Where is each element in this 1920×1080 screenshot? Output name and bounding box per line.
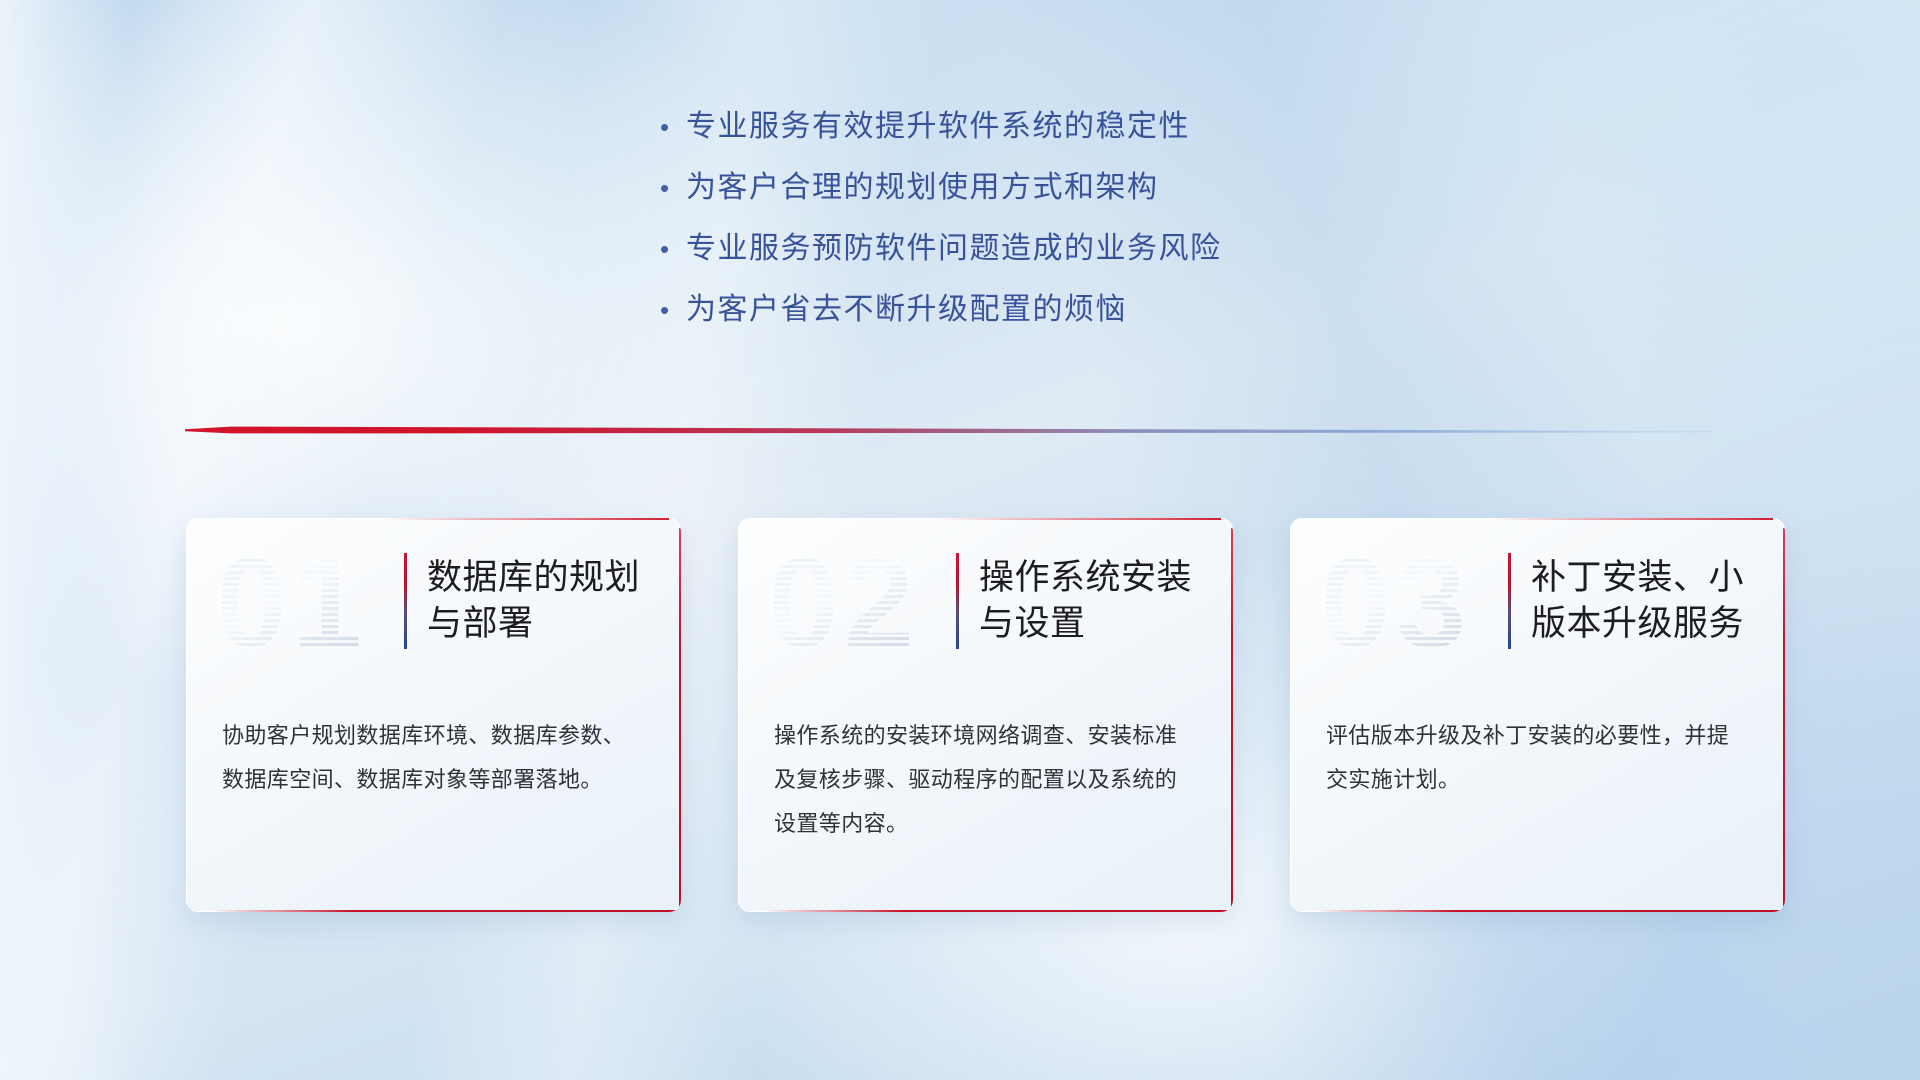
bullet-dot-icon: • bbox=[660, 297, 686, 323]
card-title: 操作系统安装 与设置 bbox=[979, 555, 1192, 647]
card-title-rule bbox=[956, 553, 959, 649]
bullet-text: 为客户省去不断升级配置的烦恼 bbox=[686, 293, 1127, 326]
card-title-rule bbox=[404, 553, 407, 649]
card-number-01-graphic: 01 01 bbox=[210, 535, 400, 667]
section-divider bbox=[185, 424, 1715, 442]
card-body-text: 评估版本升级及补丁安装的必要性，并提交实施计划。 bbox=[1326, 714, 1751, 802]
card-bottom-accent bbox=[212, 910, 681, 913]
card-header: 01 01 数据库的规划 与部署 bbox=[186, 526, 681, 676]
card-top-accent bbox=[1488, 518, 1773, 520]
card-title-rule bbox=[1508, 553, 1511, 649]
card-title: 数据库的规划 与部署 bbox=[427, 555, 640, 647]
bullet-text: 专业服务有效提升软件系统的稳定性 bbox=[686, 110, 1190, 143]
svg-text:03: 03 bbox=[1320, 535, 1470, 667]
card-number-03-graphic: 03 03 bbox=[1314, 535, 1504, 667]
svg-text:02: 02 bbox=[768, 535, 918, 667]
list-item: • 为客户合理的规划使用方式和架构 bbox=[660, 171, 1480, 204]
card-top-accent bbox=[936, 518, 1221, 520]
list-item: • 专业服务有效提升软件系统的稳定性 bbox=[660, 110, 1480, 143]
card-top-accent bbox=[384, 518, 669, 520]
card-body-text: 操作系统的安装环境网络调查、安装标准及复核步骤、驱动程序的配置以及系统的设置等内… bbox=[774, 714, 1199, 846]
bullet-text: 专业服务预防软件问题造成的业务风险 bbox=[686, 232, 1222, 265]
card-body-text: 协助客户规划数据库环境、数据库参数、数据库空间、数据库对象等部署落地。 bbox=[222, 714, 647, 802]
bullet-dot-icon: • bbox=[660, 236, 686, 262]
bullet-dot-icon: • bbox=[660, 114, 686, 140]
card-bottom-accent bbox=[764, 910, 1233, 913]
service-card-03[interactable]: 03 03 补丁安装、小 版本升级服务 评估版本升级及补丁安装的必要性，并提交实… bbox=[1290, 518, 1785, 912]
service-card-group: 01 01 数据库的规划 与部署 协助客户规划数据库环境、数据库参数、数据库空间… bbox=[186, 518, 1786, 918]
bullet-text: 为客户合理的规划使用方式和架构 bbox=[686, 171, 1159, 204]
svg-text:01: 01 bbox=[216, 535, 366, 667]
service-card-01[interactable]: 01 01 数据库的规划 与部署 协助客户规划数据库环境、数据库参数、数据库空间… bbox=[186, 518, 681, 912]
list-item: • 专业服务预防软件问题造成的业务风险 bbox=[660, 232, 1480, 265]
card-bottom-accent bbox=[1316, 910, 1785, 913]
bullet-dot-icon: • bbox=[660, 175, 686, 201]
card-number-02-graphic: 02 02 bbox=[762, 535, 952, 667]
card-header: 03 03 补丁安装、小 版本升级服务 bbox=[1290, 526, 1785, 676]
card-header: 02 02 操作系统安装 与设置 bbox=[738, 526, 1233, 676]
service-card-02[interactable]: 02 02 操作系统安装 与设置 操作系统的安装环境网络调查、安装标准及复核步骤… bbox=[738, 518, 1233, 912]
list-item: • 为客户省去不断升级配置的烦恼 bbox=[660, 293, 1480, 326]
benefits-bullet-list: • 专业服务有效提升软件系统的稳定性 • 为客户合理的规划使用方式和架构 • 专… bbox=[660, 110, 1480, 354]
slide-canvas: • 专业服务有效提升软件系统的稳定性 • 为客户合理的规划使用方式和架构 • 专… bbox=[0, 0, 1920, 1080]
card-title: 补丁安装、小 版本升级服务 bbox=[1531, 555, 1744, 647]
